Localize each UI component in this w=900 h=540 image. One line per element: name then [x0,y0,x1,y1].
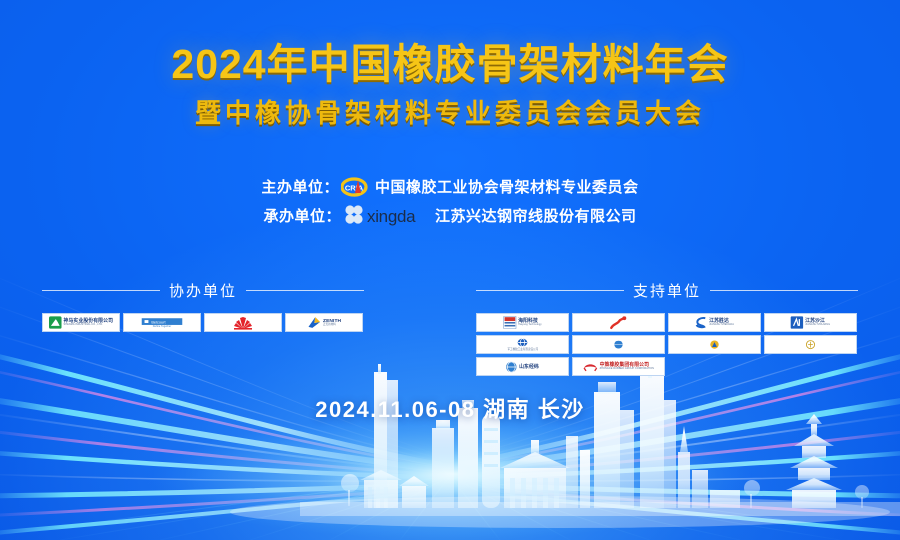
title-main: 2024年中国橡胶骨架材料年会 [0,42,900,88]
logo-belcourt[interactable]: Belcourt Define Together [123,313,201,332]
logo-globe[interactable] [572,335,665,354]
logo-shajiang[interactable]: 江苏沙江 JIANGSU SHAJIANG [764,313,857,332]
logo-jingwei[interactable]: 山东经纬 [476,357,569,376]
supporters-header: 支持单位 [476,280,858,301]
divider-line-left [42,290,160,291]
co-organizers-title: 协办单位 [169,280,237,301]
logo-shenma-en: SHENMA INDUSTRIAL CO., LTD. [64,324,113,327]
host-label: 主办单位： [261,176,339,197]
organizer-row-host: 主办单位： CRIA 中国橡胶工业协会骨架材料专业委员会 [261,176,638,197]
shield-mark [709,340,720,350]
sunburst-mark [232,315,254,330]
gear-mark [517,338,528,347]
zenith-mark [307,316,321,329]
title-subtitle: 暨中橡协骨架材料专业委员会会员大会 [0,93,900,130]
haiyang-mark [503,316,516,329]
section-co-organizers: 协办单位 神马实业股份有限公司 SHENMA IN [42,280,364,376]
logo-crest[interactable] [764,335,857,354]
logo-shajiang-en: JIANGSU SHAJIANG [805,324,830,327]
organizer-block: 主办单位： CRIA 中国橡胶工业协会骨架材料专业委员会 承办单位： [0,176,900,226]
globe-mark [613,340,624,350]
xingda-logo: xingda [343,204,429,226]
organizer-name: 江苏兴达钢帘线股份有限公司 [435,205,637,226]
logo-runner[interactable] [572,313,665,332]
supporter-logos: 海阳科技 Haiyang Technology [476,313,858,376]
logo-haiyang-en: Haiyang Technology [518,324,541,327]
shengda-mark [695,316,708,329]
zhongce-mark [583,361,598,372]
shenma-mark [49,316,62,329]
logo-jingwei-cn: 山东经纬 [519,364,539,369]
organizer-row-organizer: 承办单位： xingda 江苏兴达钢帘线股份有限公司 [263,204,636,226]
svg-text:CRIA: CRIA [345,183,364,192]
logo-belcourt-en: Define Together [153,324,171,327]
shajiang-mark [791,316,804,329]
belcourt-mark: Belcourt [142,318,183,325]
logo-shengda[interactable]: 江苏胜达 JIANGSU SHENGDA [668,313,761,332]
section-supporters: 支持单位 [476,280,858,376]
date-location: 2024.11.06-08 湖南 长沙 [0,392,900,424]
svg-text:xingda: xingda [367,207,416,226]
logo-zhongce-en: ZHONGCE RUBBER GROUP CORPORATION [600,368,654,371]
logo-zhongce[interactable]: 中策橡胶集团有限公司 ZHONGCE RUBBER GROUP CORPORAT… [572,357,665,376]
logo-shenma[interactable]: 神马实业股份有限公司 SHENMA INDUSTRIAL CO., LTD. [42,313,120,332]
co-organizer-logos: 神马实业股份有限公司 SHENMA INDUSTRIAL CO., LTD. B… [42,313,364,332]
jingwei-mark [506,361,518,373]
divider-line-right [710,290,858,291]
organizer-label: 承办单位： [263,205,341,226]
divider-line-right [246,290,364,291]
divider-line-left [476,290,624,291]
logo-shengda-en: JIANGSU SHENGDA [709,324,734,327]
logo-gear[interactable]: 军工橡胶工业有限责任公司 [476,335,569,354]
page-title: 2024年中国橡胶骨架材料年会 暨中橡协骨架材料专业委员会会员大会 [0,42,900,130]
partner-sections: 协办单位 神马实业股份有限公司 SHENMA IN [0,280,900,376]
crest-mark [805,340,816,350]
svg-text:Belcourt: Belcourt [151,319,166,324]
supporters-title: 支持单位 [633,280,701,301]
logo-shield[interactable] [668,335,761,354]
logo-haiyang[interactable]: 海阳科技 Haiyang Technology [476,313,569,332]
cria-logo: CRIA [341,177,369,197]
logo-zenith-en: 正天新材料 [323,324,341,327]
co-organizers-header: 协办单位 [42,280,364,301]
logo-gear-cn: 军工橡胶工业有限责任公司 [507,347,538,351]
host-name: 中国橡胶工业协会骨架材料专业委员会 [375,176,639,197]
runner-mark [608,316,627,330]
logo-sunburst[interactable] [204,313,282,332]
banner-background: 2024年中国橡胶骨架材料年会 暨中橡协骨架材料专业委员会会员大会 主办单位： … [0,0,900,540]
logo-zenith[interactable]: ZENITH 正天新材料 [285,313,363,332]
